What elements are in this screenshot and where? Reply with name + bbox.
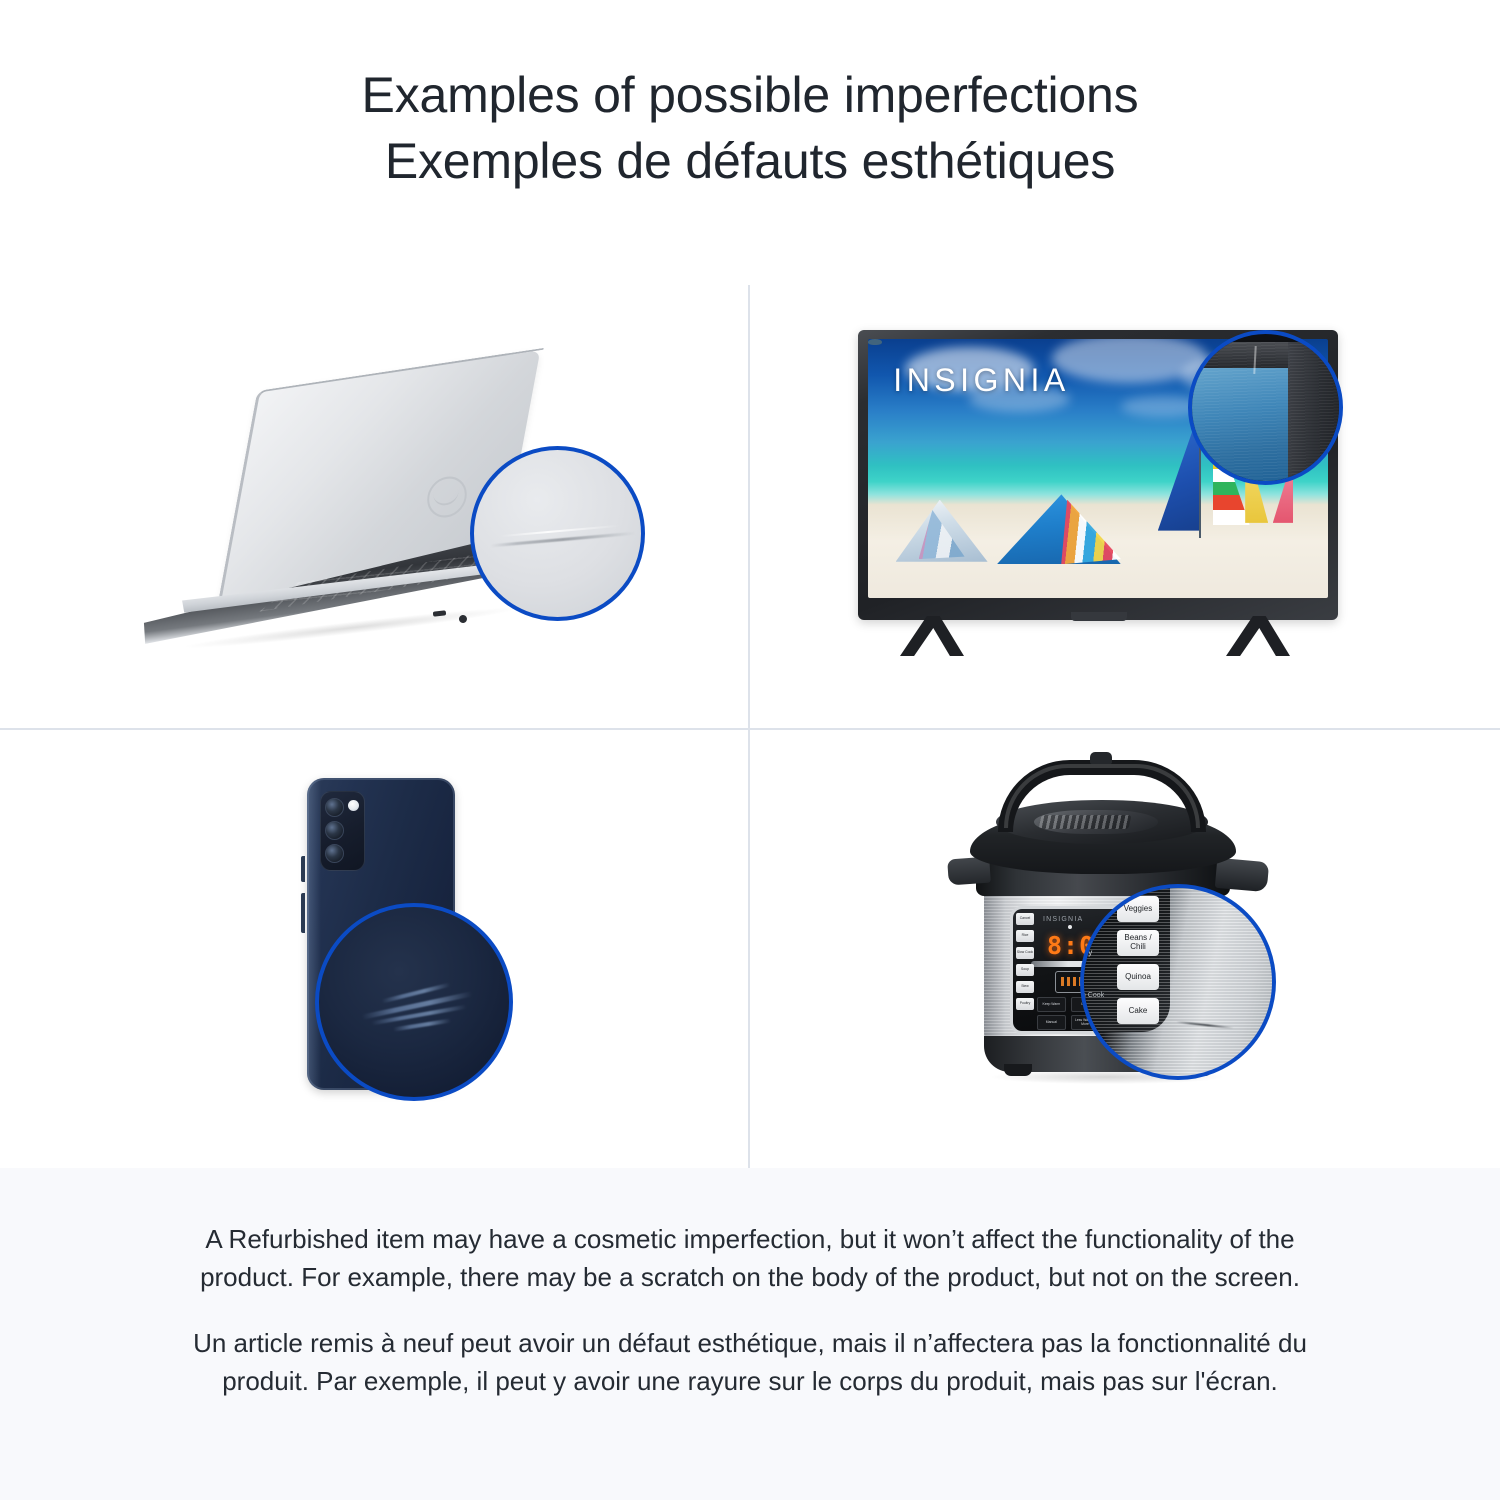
description-french: Un article remis à neuf peut avoir un dé… bbox=[185, 1324, 1315, 1400]
cooker-button[interactable]: Poultry bbox=[1016, 998, 1034, 1010]
magnified-label-delay: lay bbox=[1082, 948, 1092, 957]
cooker-button[interactable]: Keep Warm bbox=[1037, 997, 1066, 1012]
cooker-left-button-column: Cancel Rice Slow Cook Soup Stew Poultry bbox=[1015, 913, 1035, 1033]
phone-illustration bbox=[255, 778, 515, 1118]
magnifier-cooker-scratch: lay m Cook Veggies Beans / Chili Quinoa … bbox=[1080, 884, 1276, 1080]
header: Examples of possible imperfections Exemp… bbox=[0, 0, 1500, 258]
cooker-button[interactable]: Quinoa bbox=[1117, 964, 1159, 990]
magnified-brushed-texture bbox=[1084, 888, 1272, 1076]
cooker-illustration: INSIGNIA 8:00 Cancel Rice Slow Cook Soup… bbox=[938, 748, 1318, 1148]
cooker-button[interactable]: Veggies bbox=[1117, 896, 1159, 922]
phone-volume-button bbox=[301, 893, 305, 933]
cooker-lid-handle-highlight bbox=[1004, 764, 1200, 828]
tv-stand-right bbox=[1226, 616, 1290, 656]
magnifier-phone-scuffs bbox=[315, 903, 513, 1101]
magnifier-laptop-scratch bbox=[470, 446, 645, 621]
cooker-button[interactable]: Stew bbox=[1016, 981, 1034, 993]
magnifier-tv-scratch bbox=[1188, 330, 1343, 485]
cooker-button[interactable]: Manual bbox=[1037, 1015, 1066, 1030]
product-grid: INSIGNIA bbox=[0, 285, 1500, 1168]
panel-smartphone bbox=[0, 730, 748, 1168]
laptop-illustration bbox=[175, 370, 595, 660]
cooker-foot-left bbox=[1004, 1064, 1032, 1076]
distant-boat bbox=[868, 339, 882, 345]
tv-screen-brand-text: INSIGNIA bbox=[893, 362, 1069, 399]
phone-power-button bbox=[301, 856, 305, 882]
scratch-mark bbox=[393, 1018, 451, 1031]
cooker-button[interactable]: Cancel bbox=[1016, 913, 1034, 925]
tv-brand-bar bbox=[1071, 612, 1127, 621]
imperfections-infographic: Examples of possible imperfections Exemp… bbox=[0, 0, 1500, 1500]
panel-laptop bbox=[0, 285, 748, 728]
cooker-button[interactable]: Soup bbox=[1016, 964, 1034, 976]
magnified-label-slowcook: m Cook bbox=[1080, 992, 1104, 999]
bezel-texture bbox=[1188, 342, 1343, 485]
tv-illustration: INSIGNIA bbox=[858, 330, 1358, 690]
cooker-button[interactable]: Slow Cook bbox=[1016, 947, 1034, 959]
cooker-button[interactable]: Cake bbox=[1117, 998, 1159, 1024]
page-title-english: Examples of possible imperfections bbox=[362, 62, 1139, 128]
cooker-button[interactable]: Beans / Chili bbox=[1117, 930, 1159, 956]
laptop-audio-port bbox=[459, 615, 468, 624]
page-title-french: Exemples de défauts esthétiques bbox=[385, 128, 1115, 194]
tv-stand-left bbox=[900, 616, 964, 656]
panel-pressure-cooker: INSIGNIA 8:00 Cancel Rice Slow Cook Soup… bbox=[750, 730, 1500, 1168]
cooker-button[interactable]: Rice bbox=[1016, 930, 1034, 942]
scratch-mark bbox=[371, 1005, 466, 1026]
cooker-steam-valve bbox=[1090, 752, 1112, 764]
panel-television: INSIGNIA bbox=[750, 285, 1500, 728]
sail-striped-foreground bbox=[1061, 500, 1121, 565]
cooker-indicator-light bbox=[1068, 925, 1072, 929]
cooker-brand-text: INSIGNIA bbox=[1043, 916, 1083, 923]
footer-description: A Refurbished item may have a cosmetic i… bbox=[0, 1168, 1500, 1500]
magnified-button-column: Veggies Beans / Chili Quinoa Cake bbox=[1116, 896, 1160, 1024]
cooker-button[interactable]: Steam bbox=[1037, 1033, 1066, 1034]
description-english: A Refurbished item may have a cosmetic i… bbox=[185, 1220, 1315, 1296]
